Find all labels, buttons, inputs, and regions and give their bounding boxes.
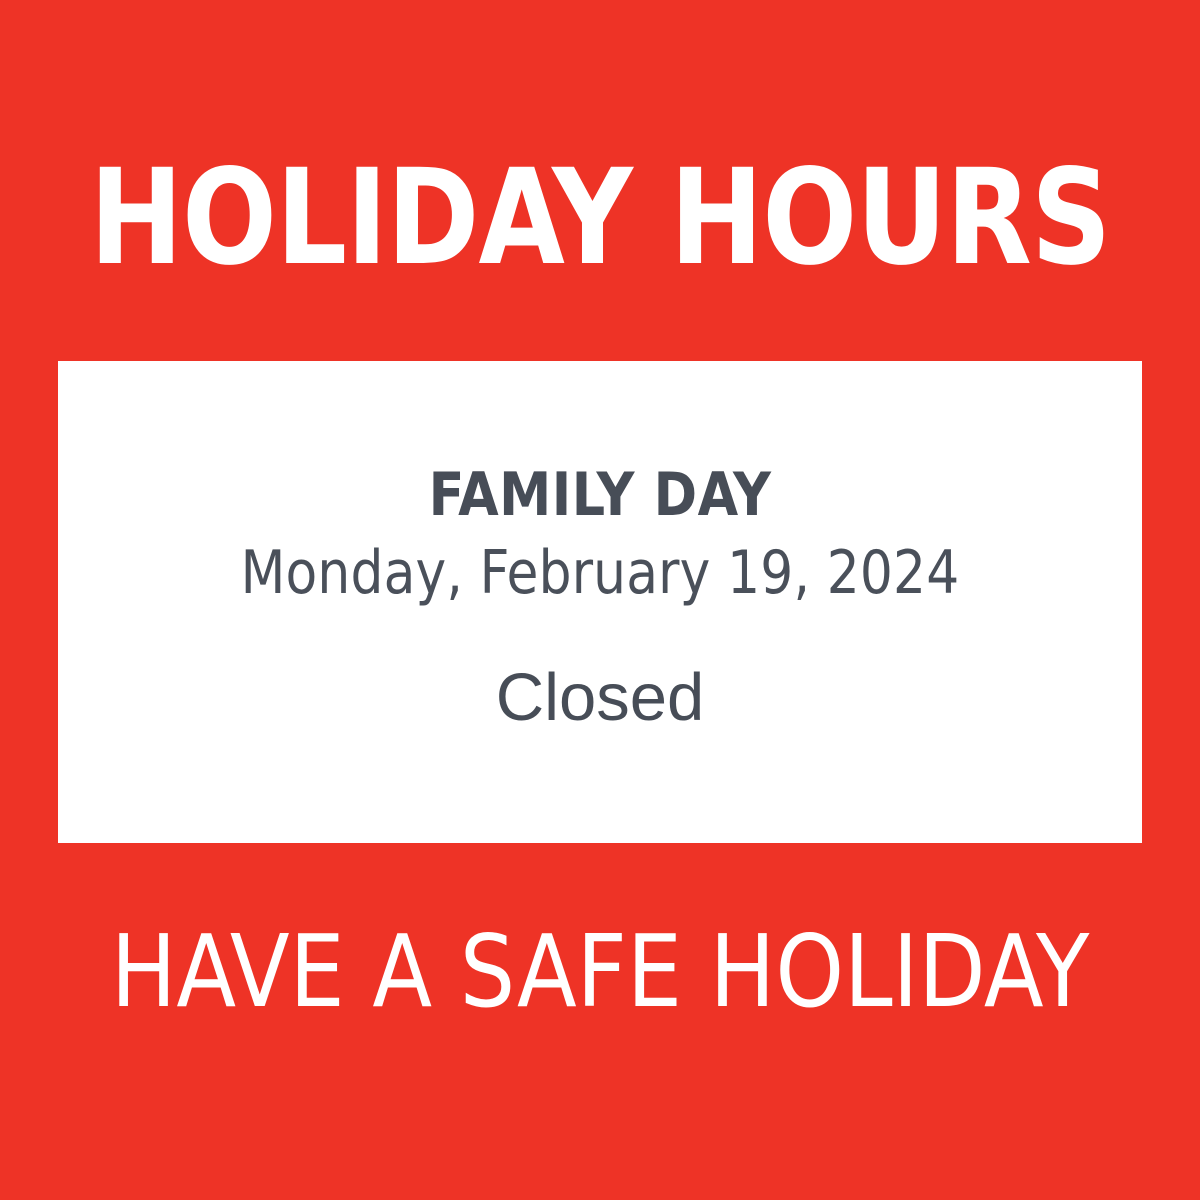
holiday-hours-poster: HOLIDAY HOURS FAMILY DAY Monday, Februar…: [0, 0, 1200, 1200]
holiday-date: Monday, February 19, 2024: [80, 538, 1121, 609]
status-badge: Closed: [58, 661, 1142, 735]
holiday-detail-card-content: FAMILY DAY Monday, February 19, 2024 Clo…: [58, 463, 1142, 740]
page-title: HOLIDAY HOURS: [36, 152, 1164, 284]
holiday-name: FAMILY DAY: [74, 463, 1125, 528]
footer-message: HAVE A SAFE HOLIDAY: [18, 922, 1182, 1022]
holiday-detail-card: FAMILY DAY Monday, February 19, 2024 Clo…: [58, 361, 1142, 843]
